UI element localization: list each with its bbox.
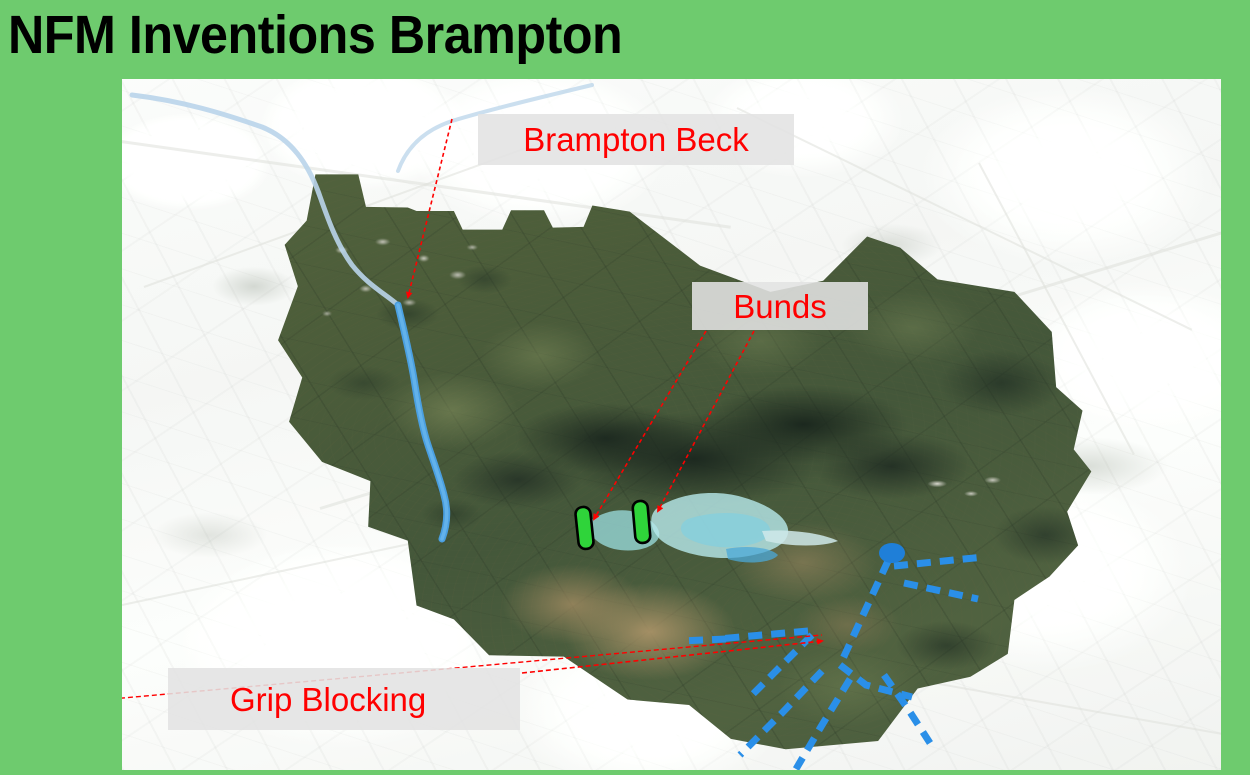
grip-line-se: [884, 675, 930, 743]
grip-line-mid-east: [904, 583, 978, 599]
leader-line-bund-west: [594, 331, 706, 519]
bottom-green-strip: [0, 770, 1250, 775]
grip-line-far-west: [682, 639, 726, 641]
leader-line-bund-east: [658, 331, 754, 511]
callout-brampton-beck-label: Brampton Beck: [523, 123, 749, 156]
bund-west[interactable]: [575, 506, 594, 549]
watercourse-brampton-beck-upstream: [132, 95, 398, 305]
callout-grip-blocking-label: Grip Blocking: [230, 683, 426, 716]
watercourse-brampton-beck-main-core: [398, 305, 447, 539]
grip-outlet-pond[interactable]: [879, 543, 905, 563]
grip-line-spine: [840, 561, 888, 665]
map-canvas[interactable]: [122, 79, 1221, 770]
callout-bunds[interactable]: Bunds: [692, 282, 868, 330]
bund-east[interactable]: [632, 500, 651, 543]
callout-bunds-label: Bunds: [733, 290, 827, 323]
grip-blocking-network[interactable]: [682, 557, 984, 769]
page-title: NFM Inventions Brampton: [8, 2, 938, 68]
grip-line-west-upper: [718, 631, 808, 639]
slide-root: NFM Inventions Brampton: [0, 0, 1250, 775]
map-vector-overlay: [122, 79, 1221, 770]
grip-line-north-east: [894, 557, 984, 566]
callout-grip-blocking[interactable]: Grip Blocking: [168, 668, 520, 730]
callout-brampton-beck[interactable]: Brampton Beck: [478, 114, 794, 165]
